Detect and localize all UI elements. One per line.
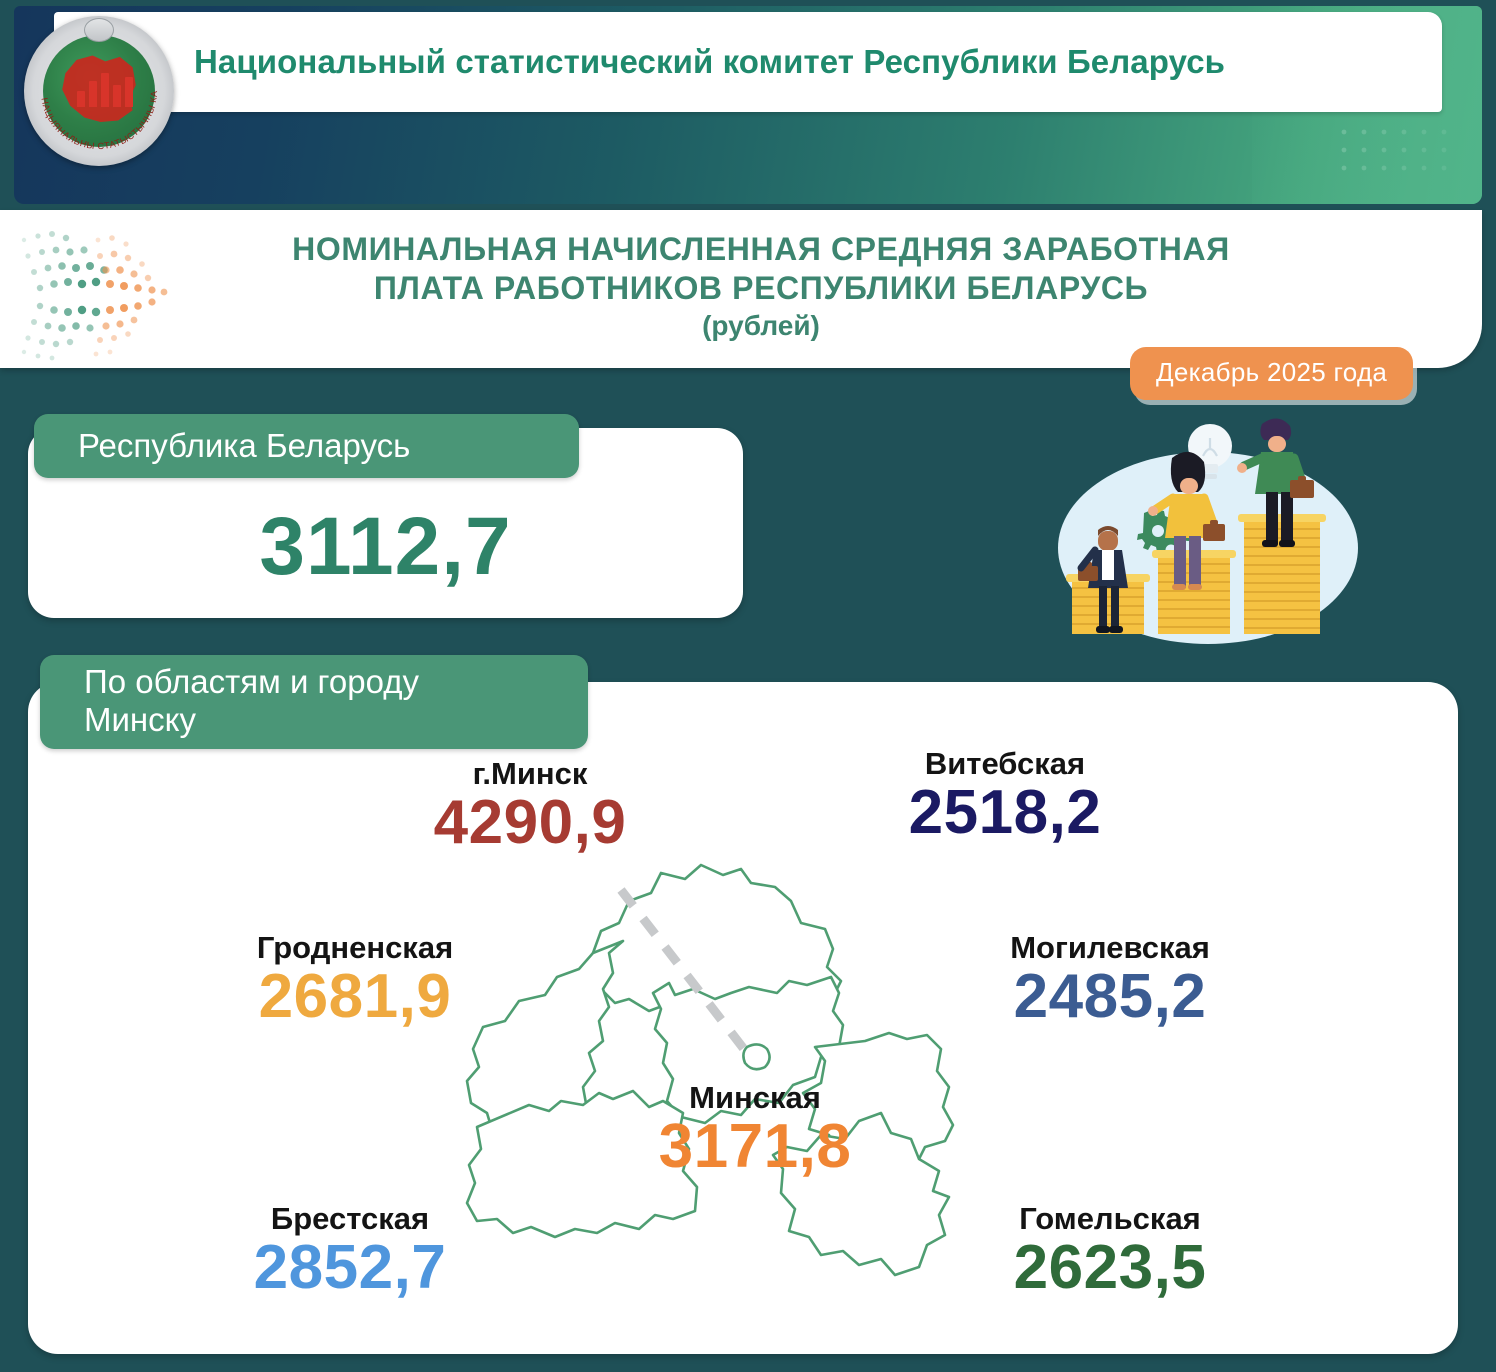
title-units: (рублей) <box>196 310 1326 342</box>
region-minsk: Минская 3171,8 <box>610 1082 900 1179</box>
region-brest: Брестская 2852,7 <box>185 1203 515 1300</box>
regions-label-line-2: Минску <box>84 701 588 739</box>
region-value: 2623,5 <box>935 1236 1285 1300</box>
region-value: 4290,9 <box>390 791 670 855</box>
period-badge[interactable]: Декабрь 2025 года <box>1130 347 1413 400</box>
briefcase-icon <box>1203 524 1225 541</box>
people-on-coin-stacks-illustration <box>1040 398 1370 668</box>
region-minsk-city: г.Минск 4290,9 <box>390 758 670 855</box>
title-line-2: ПЛАТА РАБОТНИКОВ РЕСПУБЛИКИ БЕЛАРУСЬ <box>196 269 1326 308</box>
region-name: Витебская <box>845 748 1165 781</box>
region-name: Брестская <box>185 1203 515 1236</box>
region-name: г.Минск <box>390 758 670 791</box>
region-value: 2681,9 <box>180 965 530 1029</box>
region-vitebsk: Витебская 2518,2 <box>845 748 1165 845</box>
regions-label-line-1: По областям и городу <box>84 663 588 701</box>
dotted-chevron-icon <box>6 218 194 364</box>
region-mogilev: Могилевская 2485,2 <box>930 932 1290 1029</box>
region-name: Гродненская <box>180 932 530 965</box>
region-name: Могилевская <box>930 932 1290 965</box>
region-value: 3171,8 <box>610 1115 900 1179</box>
region-name: Минская <box>610 1082 900 1115</box>
briefcase-icon <box>1290 480 1314 498</box>
organization-title: Национальный статистический комитет Респ… <box>194 43 1225 81</box>
region-name: Гомельская <box>935 1203 1285 1236</box>
region-gomel: Гомельская 2623,5 <box>935 1203 1285 1300</box>
region-value: 2518,2 <box>845 781 1165 845</box>
republic-label: Республика Беларусь <box>34 414 579 478</box>
republic-value: 3112,7 <box>28 500 743 594</box>
infographic-page: Национальный статистический комитет Респ… <box>0 0 1496 1372</box>
belarus-statistics-emblem-icon: НАЦЫЯНАЛЬНЫ СТАТЫСТЫЧНЫ КАМІТЭТ РЭСПУБЛІ… <box>24 16 174 166</box>
region-grodno: Гродненская 2681,9 <box>180 932 530 1029</box>
region-value: 2852,7 <box>185 1236 515 1300</box>
title-line-1: НОМИНАЛЬНАЯ НАЧИСЛЕННАЯ СРЕДНЯЯ ЗАРАБОТН… <box>196 230 1326 269</box>
title-card: НОМИНАЛЬНАЯ НАЧИСЛЕННАЯ СРЕДНЯЯ ЗАРАБОТН… <box>0 210 1482 368</box>
main-title: НОМИНАЛЬНАЯ НАЧИСЛЕННАЯ СРЕДНЯЯ ЗАРАБОТН… <box>196 230 1326 342</box>
header-dot-pattern-icon <box>1338 126 1458 186</box>
region-value: 2485,2 <box>930 965 1290 1029</box>
regions-label: По областям и городу Минску <box>40 655 588 749</box>
header-title-bar: Национальный статистический комитет Респ… <box>54 12 1442 112</box>
